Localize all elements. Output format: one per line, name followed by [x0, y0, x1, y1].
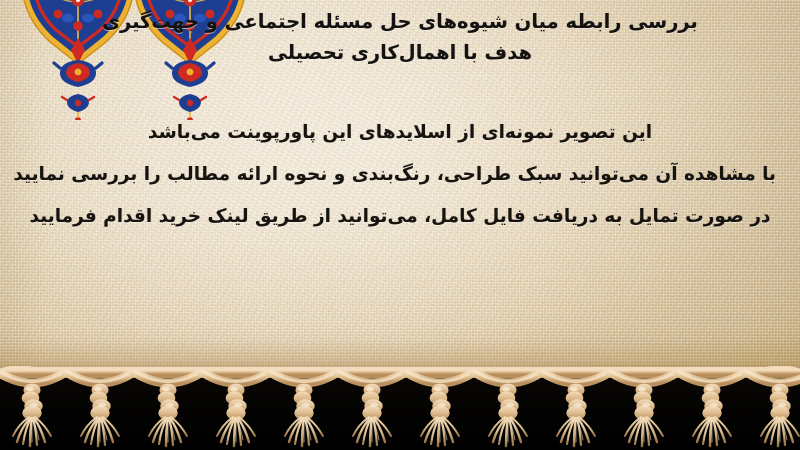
slide-body-text: این تصویر نمونه‌ای از اسلایدهای این پاور… [24, 112, 776, 238]
slide-title: بررسی رابطه میان شیوه‌های حل مسئله اجتما… [30, 6, 770, 68]
presentation-slide: بررسی رابطه میان شیوه‌های حل مسئله اجتما… [0, 0, 800, 450]
slide-text-layer: بررسی رابطه میان شیوه‌های حل مسئله اجتما… [0, 0, 800, 382]
bottom-black-band [0, 378, 800, 450]
slide-body-line-2: با مشاهده آن می‌توانید سبک طراحی، رنگ‌بن… [24, 154, 776, 196]
slide-title-line-1: بررسی رابطه میان شیوه‌های حل مسئله اجتما… [30, 6, 770, 37]
slide-body-line-1: این تصویر نمونه‌ای از اسلایدهای این پاور… [24, 112, 776, 154]
slide-title-line-2: هدف با اهمال‌کاری تحصیلی [30, 37, 770, 68]
slide-body-line-3: در صورت تمایل به دریافت فایل کامل، می‌تو… [24, 196, 776, 238]
